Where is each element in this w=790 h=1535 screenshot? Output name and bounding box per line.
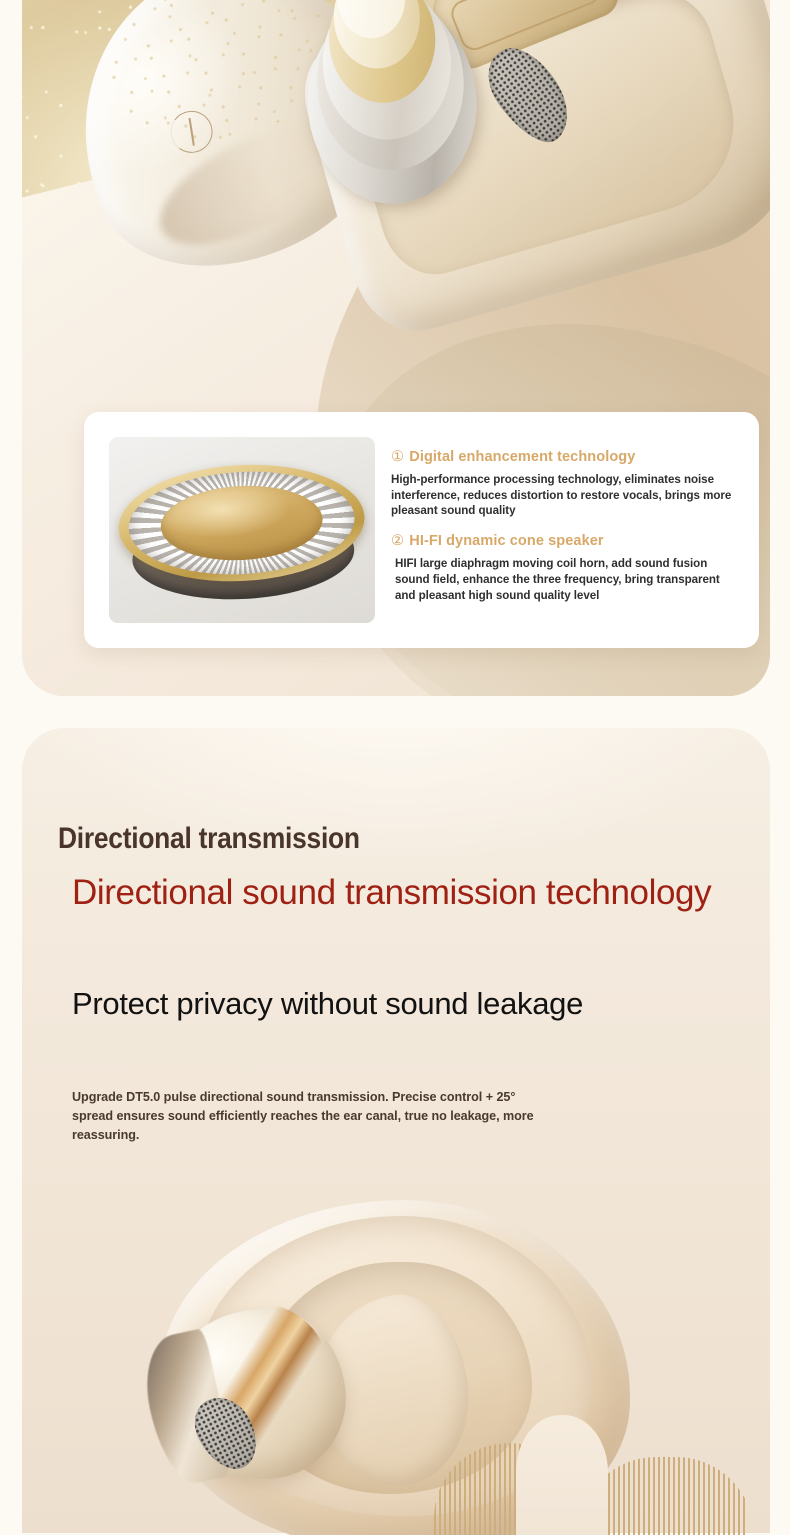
speaker-driver-illustration — [113, 449, 371, 612]
section2-eyebrow: Directional transmission — [58, 822, 360, 856]
section2-headline-black: Protect privacy without sound leakage — [72, 985, 762, 1022]
feature-list: ① Digital enhancement technology High-pe… — [391, 450, 739, 603]
feature-item-1: ① Digital enhancement technology High-pe… — [391, 450, 739, 519]
sound-wave-stripes — [428, 1415, 748, 1535]
feature-2-body: HIFI large diaphragm moving coil horn, a… — [391, 556, 739, 603]
wave-arc-mask — [516, 1415, 608, 1535]
feature-2-heading: ② HI-FI dynamic cone speaker — [391, 534, 739, 550]
product-detail-page: ① Digital enhancement technology High-pe… — [0, 0, 790, 1533]
feature-2-title: HI-FI dynamic cone speaker — [409, 533, 603, 549]
feature-2-number: ② — [391, 533, 404, 549]
feature-1-heading: ① Digital enhancement technology — [391, 450, 739, 466]
speaker-driver-photo — [109, 437, 375, 623]
hook-earphone — [120, 1262, 395, 1535]
section2-paragraph: Upgrade DT5.0 pulse directional sound tr… — [72, 1088, 552, 1145]
section2-headline-red: Directional sound transmission technolog… — [72, 872, 712, 915]
feature-card: ① Digital enhancement technology High-pe… — [84, 412, 759, 648]
feature-1-title: Digital enhancement technology — [409, 449, 635, 465]
feature-1-number: ① — [391, 449, 404, 465]
feature-item-2: ② HI-FI dynamic cone speaker HIFI large … — [391, 534, 739, 603]
hero-section: ① Digital enhancement technology High-pe… — [22, 0, 770, 696]
feature-1-body: High-performance processing technology, … — [391, 472, 739, 519]
ear-product-photo — [0, 1190, 748, 1535]
